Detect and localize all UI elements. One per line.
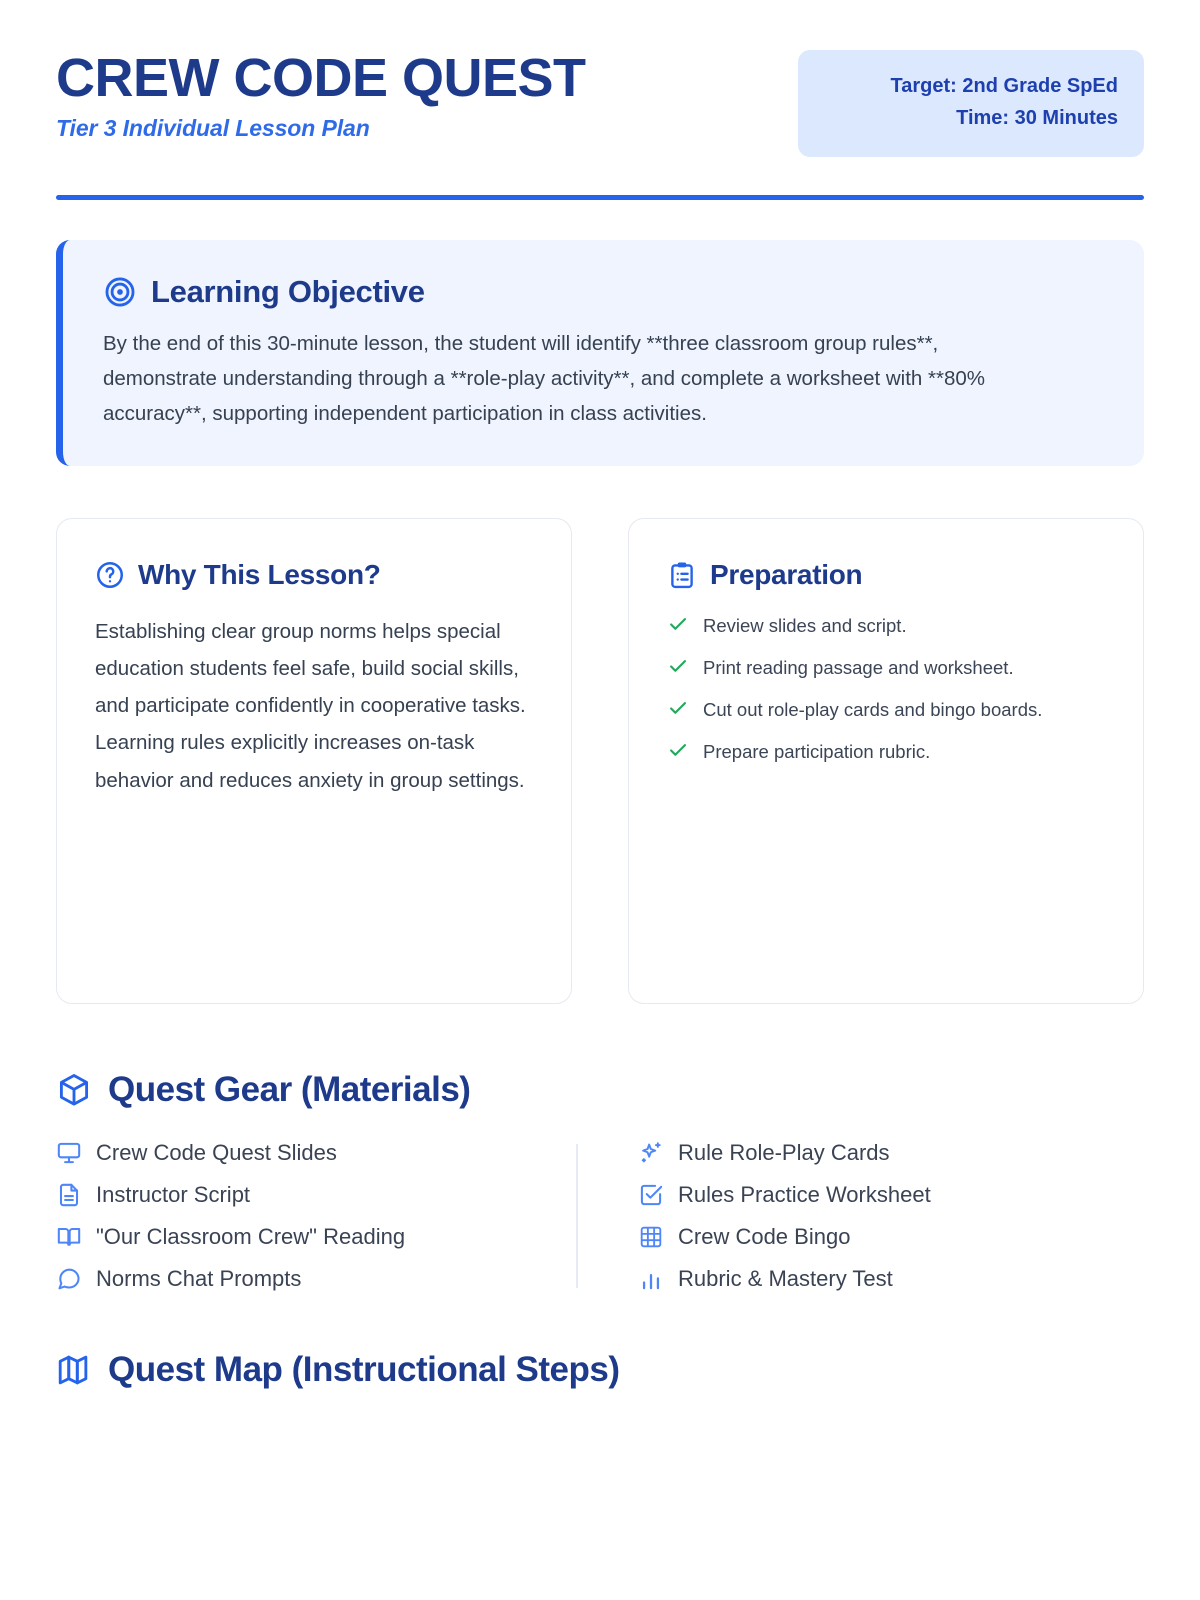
materials-section-header: Quest Gear (Materials) bbox=[56, 1070, 1144, 1110]
info-cards-row: Why This Lesson? Establishing clear grou… bbox=[56, 518, 1144, 1004]
material-label: Instructor Script bbox=[96, 1182, 250, 1208]
checkbox-checked-icon bbox=[638, 1182, 664, 1208]
material-label: Rules Practice Worksheet bbox=[678, 1182, 931, 1208]
material-label: Crew Code Bingo bbox=[678, 1224, 850, 1250]
grid-icon bbox=[638, 1224, 664, 1250]
meta-badge: Target: 2nd Grade SpEd Time: 30 Minutes bbox=[798, 50, 1144, 157]
learning-objective-body: By the end of this 30-minute lesson, the… bbox=[103, 326, 1043, 432]
list-item: Rubric & Mastery Test bbox=[638, 1266, 1098, 1292]
learning-objective-header: Learning Objective bbox=[103, 274, 1104, 310]
clipboard-list-icon bbox=[667, 560, 697, 590]
why-card-header: Why This Lesson? bbox=[95, 559, 533, 591]
preparation-checklist: Review slides and script. Print reading … bbox=[667, 613, 1105, 766]
preparation-card-header: Preparation bbox=[667, 559, 1105, 591]
page-subtitle: Tier 3 Individual Lesson Plan bbox=[56, 115, 586, 142]
list-item: "Our Classroom Crew" Reading bbox=[56, 1224, 576, 1250]
material-label: Crew Code Quest Slides bbox=[96, 1140, 337, 1166]
lesson-plan-page: CREW CODE QUEST Tier 3 Individual Lesson… bbox=[0, 0, 1200, 1600]
page-title: CREW CODE QUEST bbox=[56, 50, 586, 106]
preparation-card: Preparation Review slides and script. Pr… bbox=[628, 518, 1144, 1004]
preparation-item-label: Print reading passage and worksheet. bbox=[703, 655, 1014, 681]
circle-question-icon bbox=[95, 560, 125, 590]
list-item: Norms Chat Prompts bbox=[56, 1266, 576, 1292]
learning-objective-card: Learning Objective By the end of this 30… bbox=[56, 240, 1144, 466]
preparation-item-label: Prepare participation rubric. bbox=[703, 739, 930, 765]
quest-map-section-header: Quest Map (Instructional Steps) bbox=[56, 1350, 1144, 1390]
package-icon bbox=[56, 1072, 92, 1108]
monitor-icon bbox=[56, 1140, 82, 1166]
materials-column-left: Crew Code Quest Slides Instructor Script bbox=[56, 1140, 576, 1292]
why-card-body: Establishing clear group norms helps spe… bbox=[95, 613, 533, 799]
open-book-icon bbox=[56, 1224, 82, 1250]
quest-map-section-heading: Quest Map (Instructional Steps) bbox=[108, 1350, 620, 1390]
badge-time-text: Time: 30 Minutes bbox=[824, 102, 1118, 134]
list-item: Print reading passage and worksheet. bbox=[667, 655, 1105, 681]
material-label: Rubric & Mastery Test bbox=[678, 1266, 893, 1292]
title-block: CREW CODE QUEST Tier 3 Individual Lesson… bbox=[56, 44, 586, 142]
materials-column-right: Rule Role-Play Cards Rules Practice Work… bbox=[578, 1140, 1098, 1292]
learning-objective-heading: Learning Objective bbox=[151, 274, 425, 310]
preparation-item-label: Cut out role-play cards and bingo boards… bbox=[703, 697, 1042, 723]
check-icon bbox=[667, 613, 689, 635]
file-text-icon bbox=[56, 1182, 82, 1208]
material-label: Rule Role-Play Cards bbox=[678, 1140, 890, 1166]
materials-section-heading: Quest Gear (Materials) bbox=[108, 1070, 470, 1110]
bar-chart-icon bbox=[638, 1266, 664, 1292]
list-item: Review slides and script. bbox=[667, 613, 1105, 639]
check-icon bbox=[667, 739, 689, 761]
material-label: Norms Chat Prompts bbox=[96, 1266, 301, 1292]
list-item: Prepare participation rubric. bbox=[667, 739, 1105, 765]
check-icon bbox=[667, 697, 689, 719]
header-divider bbox=[56, 195, 1144, 200]
badge-target-text: Target: 2nd Grade SpEd bbox=[824, 70, 1118, 102]
list-item: Instructor Script bbox=[56, 1182, 576, 1208]
materials-list: Crew Code Quest Slides Instructor Script bbox=[56, 1140, 1144, 1292]
list-item: Crew Code Bingo bbox=[638, 1224, 1098, 1250]
why-this-lesson-card: Why This Lesson? Establishing clear grou… bbox=[56, 518, 572, 1004]
list-item: Rule Role-Play Cards bbox=[638, 1140, 1098, 1166]
target-icon bbox=[103, 275, 137, 309]
why-card-heading: Why This Lesson? bbox=[138, 559, 381, 591]
message-circle-icon bbox=[56, 1266, 82, 1292]
list-item: Rules Practice Worksheet bbox=[638, 1182, 1098, 1208]
list-item: Crew Code Quest Slides bbox=[56, 1140, 576, 1166]
map-icon bbox=[56, 1352, 92, 1388]
preparation-card-heading: Preparation bbox=[710, 559, 862, 591]
material-label: "Our Classroom Crew" Reading bbox=[96, 1224, 405, 1250]
list-item: Cut out role-play cards and bingo boards… bbox=[667, 697, 1105, 723]
preparation-item-label: Review slides and script. bbox=[703, 613, 907, 639]
sparkles-icon bbox=[638, 1140, 664, 1166]
page-header: CREW CODE QUEST Tier 3 Individual Lesson… bbox=[56, 44, 1144, 157]
check-icon bbox=[667, 655, 689, 677]
